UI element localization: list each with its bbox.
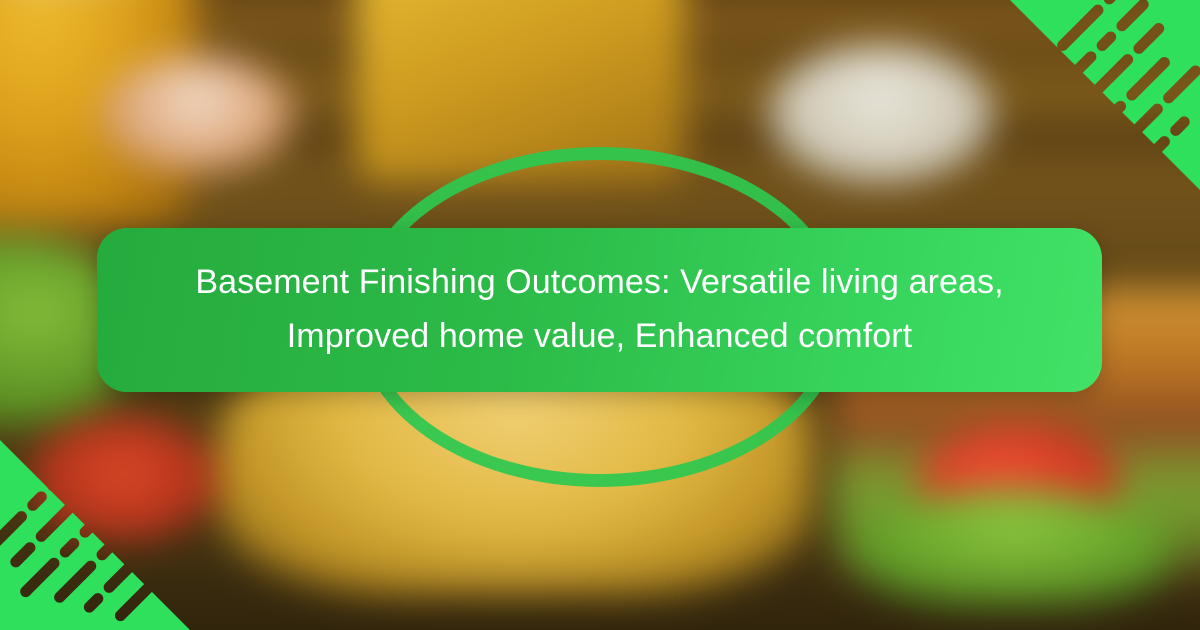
title-card: Basement Finishing Outcomes: Versatile l… xyxy=(97,228,1102,392)
page-title: Basement Finishing Outcomes: Versatile l… xyxy=(149,256,1050,363)
bottom-vignette xyxy=(0,554,1200,630)
red-vegetable-shape xyxy=(28,416,219,543)
social-share-card: Basement Finishing Outcomes: Versatile l… xyxy=(0,0,1200,630)
plate-shape xyxy=(770,45,993,183)
sauce-bowl-shape xyxy=(102,55,293,172)
